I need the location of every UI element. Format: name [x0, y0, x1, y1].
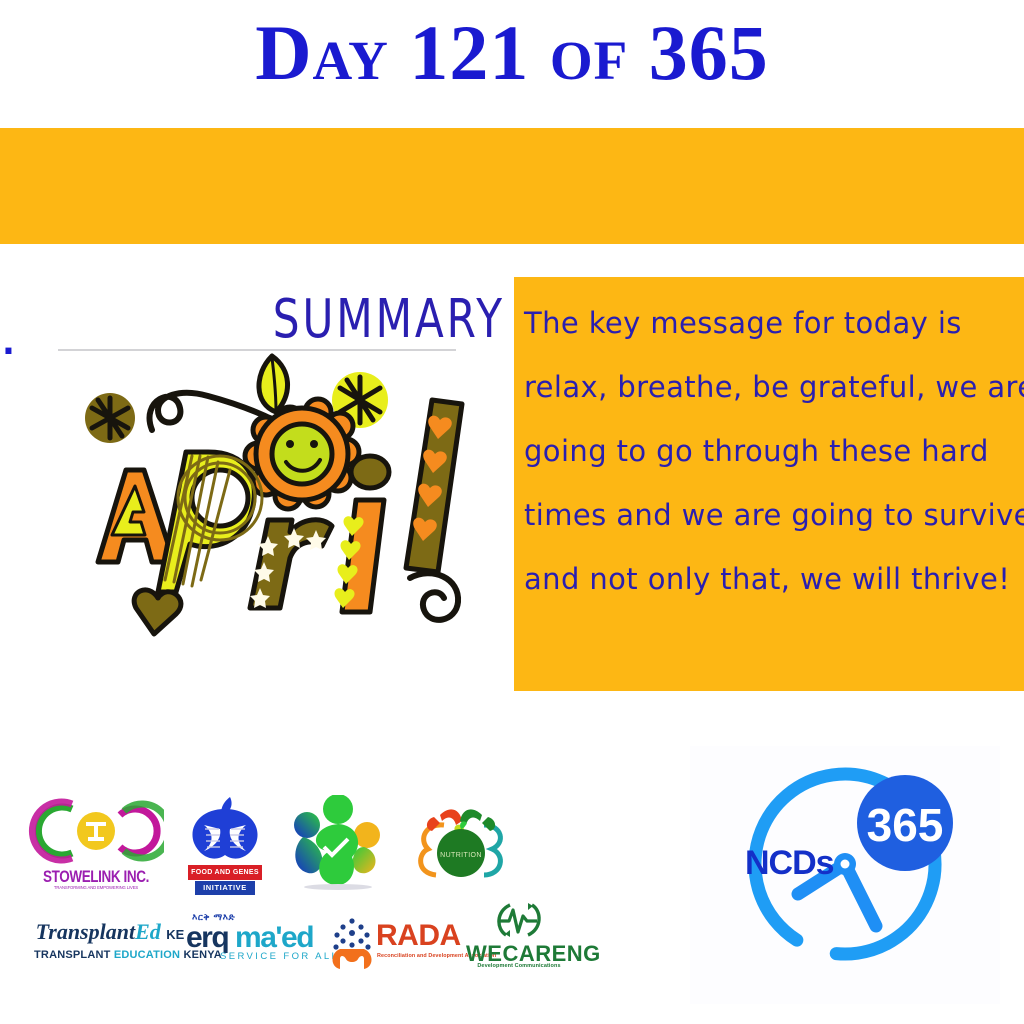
logo-stowelink: STOWELINK INC. TRANSFORMING AND EMPOWERI…	[28, 795, 164, 907]
april-artwork	[40, 330, 480, 660]
food-and-genes-initiative: INITIATIVE	[195, 881, 255, 895]
logo-erq-maed: እርቅ ማእድ erq ma'ed SERVICE FOR ALL	[186, 913, 338, 985]
stowelink-name: STOWELINK INC.	[28, 867, 164, 886]
erq-wordmark: erq ma'ed	[186, 921, 336, 955]
wecareng-tagline: Development Communications	[466, 963, 572, 969]
logo-wecareng: WECARENG Development Communications	[466, 901, 572, 973]
summary-band: . SUMMARY OF APRIL.	[0, 128, 1024, 244]
rada-wordmark: RADA	[376, 919, 461, 953]
te-sub-a: TRANSPLANT	[34, 949, 114, 961]
food-and-genes-name: FOOD AND GENES	[188, 865, 262, 880]
key-message-panel: The key message for today is relax, brea…	[514, 277, 1024, 691]
ncds-365-logo: 365 NCDs	[690, 746, 1000, 1004]
svg-text:NUTRITION: NUTRITION	[440, 852, 482, 859]
band-leading-dot: .	[2, 326, 15, 360]
transplanted-suffix: KE	[166, 927, 184, 942]
key-message-text: The key message for today is relax, brea…	[524, 291, 1024, 611]
ncds-badge-number: 365	[867, 799, 944, 851]
page-title: Day 121 of 365	[0, 14, 1024, 92]
transplanted-word: Transplant	[36, 919, 135, 944]
stowelink-mark	[28, 795, 164, 867]
ncds-acronym: NCDs	[745, 844, 834, 882]
logo-food-and-genes: FOOD AND GENES INITIATIVE	[178, 795, 272, 907]
stowelink-tagline: TRANSFORMING AND EMPOWERING LIVES	[28, 885, 164, 890]
erq-accent: ma'ed	[235, 921, 313, 954]
transplanted-wordmark: TransplantEd KE	[34, 919, 186, 945]
sob-nutrition-mark: NUTRITION	[406, 795, 514, 893]
erq-word: erq	[186, 921, 235, 954]
april-word-art	[40, 330, 480, 660]
partner-logos: STOWELINK INC. TRANSFORMING AND EMPOWERI…	[28, 795, 568, 995]
logo-rada: RADA Reconciliation and Development Asso…	[328, 913, 468, 985]
logo-youth-figures	[286, 795, 390, 907]
transplanted-accent: Ed	[135, 919, 161, 944]
transplanted-tagline: TRANSPLANT EDUCATION KENYA	[34, 949, 186, 961]
logo-transplanted-ke: TransplantEd KE TRANSPLANT EDUCATION KEN…	[34, 913, 186, 985]
logo-sob-nutrition: NUTRITION	[406, 795, 514, 907]
youth-figures-mark	[286, 795, 390, 893]
erq-tagline: SERVICE FOR ALL	[220, 951, 339, 962]
ncds-clock-mark: 365 NCDs	[690, 746, 1000, 1004]
header-area: Day 121 of 365	[0, 0, 1024, 128]
rada-mark	[328, 915, 376, 971]
wecareng-mark	[490, 899, 548, 941]
te-sub-accent: EDUCATION	[114, 949, 180, 961]
apple-dna-mark	[178, 795, 272, 863]
poster-canvas: Day 121 of 365 . SUMMARY OF APRIL.	[0, 0, 1024, 1024]
